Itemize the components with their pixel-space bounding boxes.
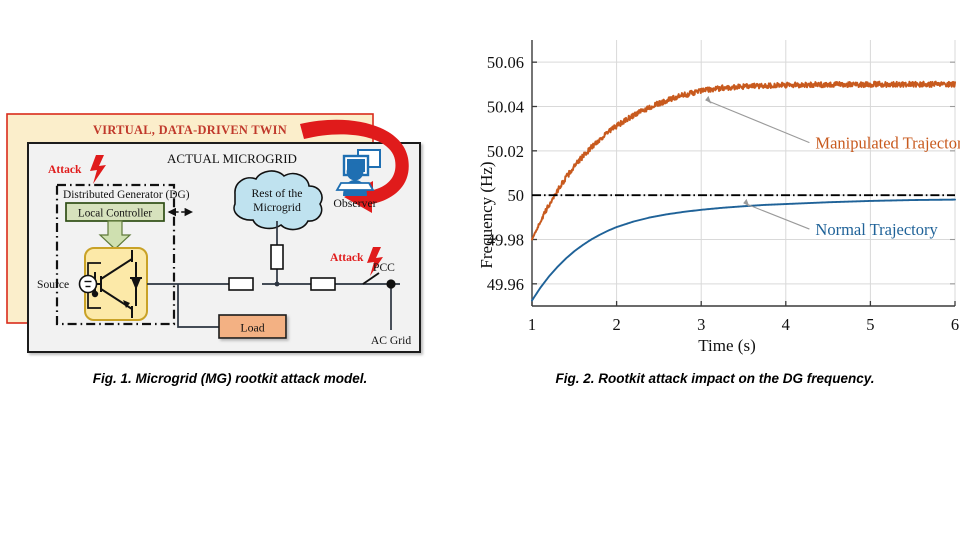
x-tick-label: 6 xyxy=(951,315,959,334)
chart-axes xyxy=(532,40,955,306)
pcc-label: PCC xyxy=(373,261,395,274)
cloud-label-line2: Microgrid xyxy=(253,200,301,214)
y-tick-label: 50.02 xyxy=(487,142,524,161)
chart-annotations: Manipulated TrajectoryNormal Trajectory xyxy=(705,96,960,239)
source-label: Source xyxy=(37,278,69,291)
figure-1-caption: Fig. 1. Microgrid (MG) rootkit attack mo… xyxy=(0,371,460,386)
attack-label-left: Attack xyxy=(48,163,82,176)
x-tick-label: 2 xyxy=(612,315,620,334)
virtual-twin-title: VIRTUAL, DATA-DRIVEN TWIN xyxy=(93,123,287,137)
figure-page: VIRTUAL, DATA-DRIVEN TWIN ACTUAL MICROGR… xyxy=(0,0,960,540)
chart-x-axis-label: Time (s) xyxy=(698,336,755,355)
x-tick-label: 4 xyxy=(782,315,790,334)
figure-1-microgrid-diagram: VIRTUAL, DATA-DRIVEN TWIN ACTUAL MICROGR… xyxy=(0,0,470,400)
figure-2-caption: Fig. 2. Rootkit attack impact on the DG … xyxy=(470,371,960,386)
chart-tick-labels: 49.9649.985050.0250.0450.06123456 xyxy=(487,53,959,334)
line-impedance-2 xyxy=(311,278,335,290)
figure-2-frequency-chart: 49.9649.985050.0250.0450.06123456 Manipu… xyxy=(470,0,960,400)
node-dot-shunt xyxy=(275,282,280,287)
chart-gridlines xyxy=(532,40,955,306)
actual-microgrid-title: ACTUAL MICROGRID xyxy=(167,151,297,166)
y-tick-label: 50.04 xyxy=(487,98,524,117)
dg-box-label: Distributed Generator (DG) xyxy=(63,189,190,201)
manipulated-trajectory-label: Manipulated Trajectory xyxy=(815,134,960,153)
manipulated-trajectory-line xyxy=(532,82,955,240)
y-tick-label: 50.06 xyxy=(487,53,524,72)
observer-label: Observer xyxy=(333,196,376,210)
cloud-label-line1: Rest of the xyxy=(251,186,302,200)
annotation-leader-line xyxy=(744,203,810,229)
normal-trajectory-line xyxy=(532,200,955,301)
y-tick-label: 50 xyxy=(508,186,525,205)
normal-trajectory-label: Normal Trajectory xyxy=(815,220,938,239)
line-impedance-1 xyxy=(229,278,253,290)
chart-y-axis-label: Frequency (Hz) xyxy=(477,161,496,268)
x-tick-label: 1 xyxy=(528,315,536,334)
chart-series-group xyxy=(532,82,955,301)
annotation-arrowhead xyxy=(705,96,711,104)
ac-grid-label: AC Grid xyxy=(371,334,411,347)
load-label: Load xyxy=(240,321,264,335)
x-tick-label: 5 xyxy=(866,315,874,334)
shunt-impedance xyxy=(271,245,283,269)
pcc-node-dot xyxy=(386,279,395,288)
y-tick-label: 49.96 xyxy=(487,275,524,294)
x-tick-label: 3 xyxy=(697,315,705,334)
source-symbol-icon xyxy=(80,276,97,293)
local-controller-label: Local Controller xyxy=(78,208,153,220)
attack-label-right: Attack xyxy=(330,251,364,264)
